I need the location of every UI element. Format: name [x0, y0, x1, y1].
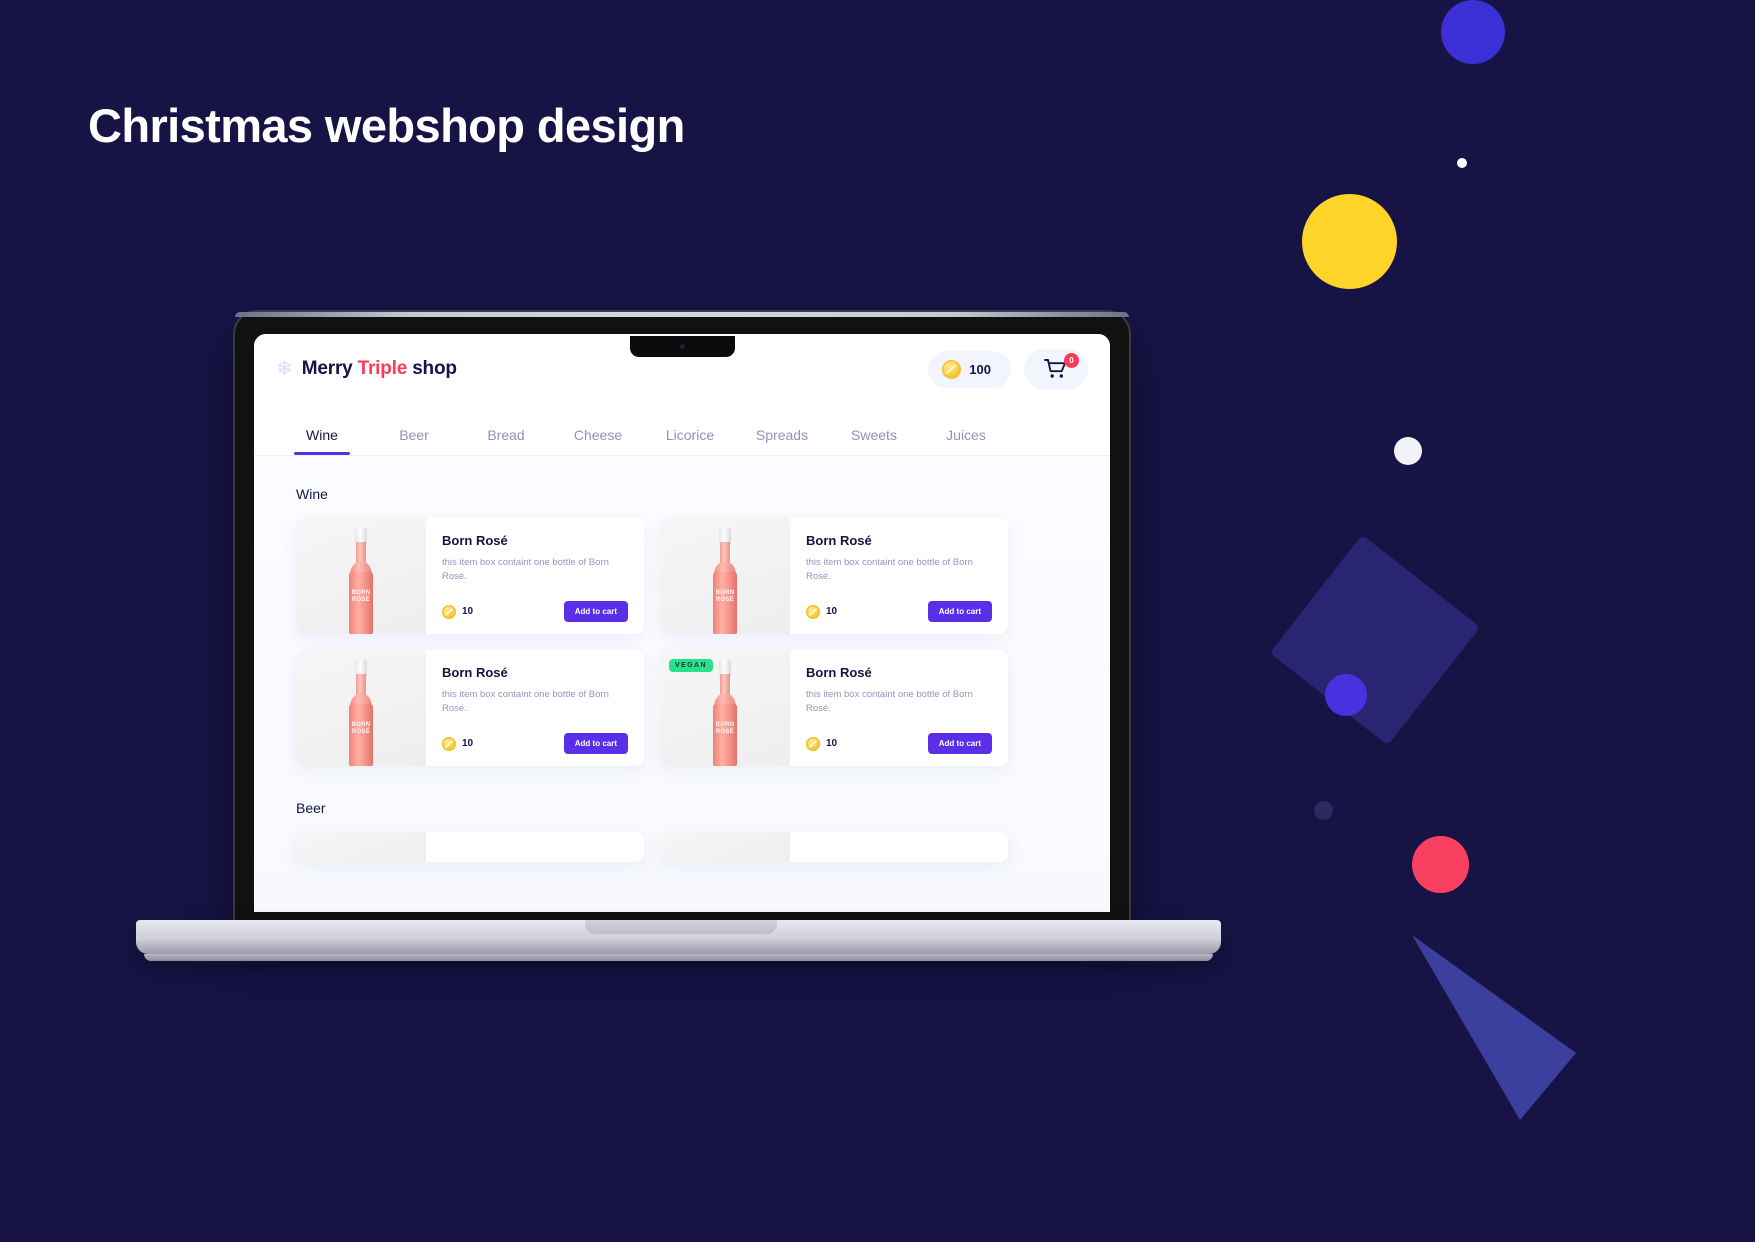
product-image: BORN ROSÉ: [296, 650, 426, 766]
coin-icon: [942, 360, 961, 379]
product-grid-beer: [296, 832, 1008, 862]
bottle-label-line2: ROSÉ: [352, 597, 370, 604]
bottle-label-line1: BORN: [716, 722, 735, 729]
product-name: Born Rosé: [806, 533, 992, 548]
product-grid-wine: BORN ROSÉ Born Rosé this item box contai…: [296, 518, 1008, 766]
product-footer: 10 Add to cart: [806, 601, 992, 622]
product-price: 10: [806, 737, 837, 751]
tab-juices[interactable]: Juices: [920, 427, 1012, 455]
coin-icon: [442, 605, 456, 619]
bottle-label-line2: ROSÉ: [716, 597, 734, 604]
product-description: this item box containt one bottle of Bor…: [806, 556, 992, 584]
product-price-value: 10: [826, 738, 837, 749]
product-price: 10: [442, 605, 473, 619]
logo-part-triple: Triple: [358, 358, 407, 379]
coin-balance-badge[interactable]: 100: [928, 351, 1011, 388]
tab-spreads[interactable]: Spreads: [736, 427, 828, 455]
coin-icon: [806, 605, 820, 619]
product-info: Born Rosé this item box containt one bot…: [790, 650, 1008, 766]
product-card[interactable]: VEGAN BORN ROSÉ Born Rosé this item: [660, 650, 1008, 766]
camera-icon: [680, 344, 685, 349]
bottle-label-line1: BORN: [716, 590, 735, 597]
laptop-foot: [144, 954, 1213, 961]
wine-bottle-icon: BORN ROSÉ: [344, 660, 378, 766]
product-info: Born Rosé this item box containt one bot…: [426, 650, 644, 766]
product-image: [296, 832, 426, 862]
tab-wine[interactable]: Wine: [276, 427, 368, 455]
wine-bottle-icon: BORN ROSÉ: [708, 660, 742, 766]
product-name: Born Rosé: [442, 533, 628, 548]
section-title-beer: Beer: [296, 800, 1088, 816]
product-name: Born Rosé: [806, 665, 992, 680]
decor-circle-purple: [1325, 674, 1367, 716]
cart-count-badge: 0: [1064, 353, 1079, 368]
page-title: Christmas webshop design: [88, 98, 685, 153]
header-actions: 100 0: [928, 349, 1088, 389]
status-badge-vegan: VEGAN: [669, 659, 713, 672]
decor-dot-faint: [1314, 801, 1333, 820]
product-info: Born Rosé this item box containt one bot…: [790, 518, 1008, 634]
tab-bread[interactable]: Bread: [460, 427, 552, 455]
decor-circle-blue: [1441, 0, 1505, 64]
bottle-label-line1: BORN: [352, 590, 371, 597]
product-price-value: 10: [462, 738, 473, 749]
bottle-label-line2: ROSÉ: [716, 729, 734, 736]
coin-icon: [806, 737, 820, 751]
decor-square-navy: [1270, 535, 1481, 746]
cart-button[interactable]: 0: [1024, 349, 1088, 389]
wine-bottle-icon: BORN ROSÉ: [344, 528, 378, 634]
laptop-base-notch: [585, 920, 777, 934]
product-card[interactable]: BORN ROSÉ Born Rosé this item box contai…: [296, 518, 644, 634]
laptop-bezel-sheen: [235, 312, 1129, 317]
section-title-wine: Wine: [296, 486, 1088, 502]
product-footer: 10 Add to cart: [442, 601, 628, 622]
page-title-text: Christmas webshop design: [88, 99, 685, 152]
product-price: 10: [442, 737, 473, 751]
snowflake-icon: ❄: [276, 359, 293, 379]
decor-circle-red: [1412, 836, 1469, 893]
logo-text: Merry Triple shop: [302, 358, 457, 380]
logo-part-merry: Merry: [302, 358, 353, 379]
bottle-label-line2: ROSÉ: [352, 729, 370, 736]
logo-part-shop: shop: [412, 358, 457, 379]
product-image: [660, 832, 790, 862]
product-image: BORN ROSÉ: [296, 518, 426, 634]
add-to-cart-button[interactable]: Add to cart: [564, 733, 628, 754]
bottle-label-line1: BORN: [352, 722, 371, 729]
add-to-cart-button[interactable]: Add to cart: [928, 733, 992, 754]
product-info: Born Rosé this item box containt one bot…: [426, 518, 644, 634]
product-card[interactable]: [660, 832, 1008, 862]
decor-dot-white-small: [1457, 158, 1467, 168]
coin-icon: [442, 737, 456, 751]
product-card[interactable]: BORN ROSÉ Born Rosé this item box contai…: [296, 650, 644, 766]
wine-bottle-icon: BORN ROSÉ: [708, 528, 742, 634]
product-price-value: 10: [462, 606, 473, 617]
product-card[interactable]: [296, 832, 644, 862]
product-card[interactable]: BORN ROSÉ Born Rosé this item box contai…: [660, 518, 1008, 634]
product-info: [426, 832, 644, 862]
add-to-cart-button[interactable]: Add to cart: [564, 601, 628, 622]
product-description: this item box containt one bottle of Bor…: [442, 556, 628, 584]
product-image: BORN ROSÉ: [660, 518, 790, 634]
coin-balance-value: 100: [969, 362, 991, 377]
decor-circle-yellow: [1302, 194, 1397, 289]
product-image: VEGAN BORN ROSÉ: [660, 650, 790, 766]
shop-nav: Wine Beer Bread Cheese Licorice Spreads …: [254, 404, 1110, 456]
laptop-screen: ❄ Merry Triple shop 100: [254, 334, 1110, 912]
decor-dot-white-mid: [1394, 437, 1422, 465]
product-footer: 10 Add to cart: [806, 733, 992, 754]
product-description: this item box containt one bottle of Bor…: [806, 688, 992, 716]
product-price: 10: [806, 605, 837, 619]
product-price-value: 10: [826, 606, 837, 617]
product-footer: 10 Add to cart: [442, 733, 628, 754]
shop-body: Wine BORN ROSÉ: [254, 456, 1110, 912]
tab-sweets[interactable]: Sweets: [828, 427, 920, 455]
tab-beer[interactable]: Beer: [368, 427, 460, 455]
shop-logo[interactable]: ❄ Merry Triple shop: [276, 358, 457, 380]
product-description: this item box containt one bottle of Bor…: [442, 688, 628, 716]
laptop-mockup: ❄ Merry Triple shop 100: [136, 312, 1221, 972]
add-to-cart-button[interactable]: Add to cart: [928, 601, 992, 622]
product-info: [790, 832, 1008, 862]
tab-cheese[interactable]: Cheese: [552, 427, 644, 455]
tab-licorice[interactable]: Licorice: [644, 427, 736, 455]
product-name: Born Rosé: [442, 665, 628, 680]
